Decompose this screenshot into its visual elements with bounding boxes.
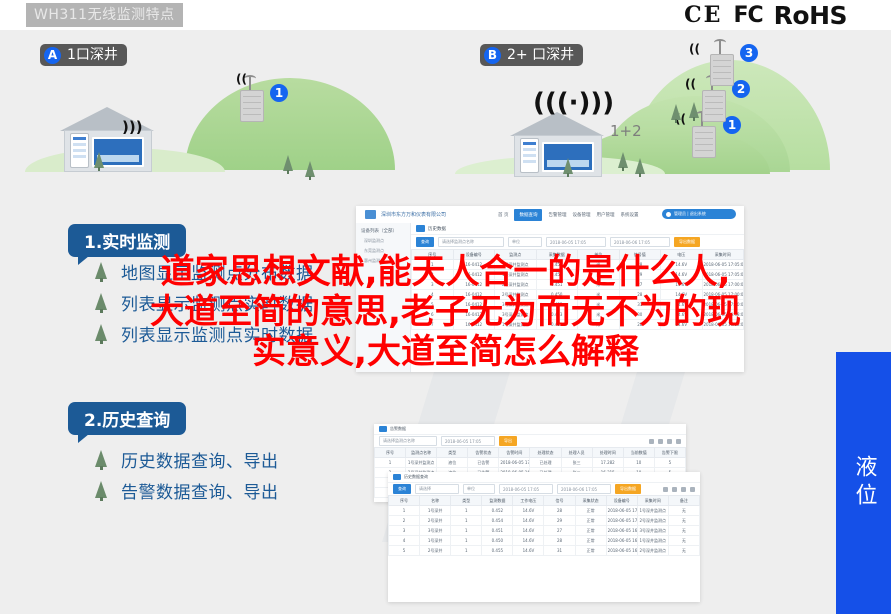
sidebar-title: 设备列表（全部） [361,228,410,234]
table-cell: 0.451 [482,526,513,536]
table-cell: 2号深井 [420,516,451,526]
list-item: 列表显示监测点实时数据 [95,287,314,318]
table-cell: 2018-06-05 17:05:12 [606,506,637,516]
user-avatar-icon [666,212,671,217]
column-header: 设备编号 [453,250,495,260]
antenna-icon [249,77,251,91]
house-icon [60,107,154,171]
table-cell: 正常 [575,526,606,536]
company-logo-icon [365,210,376,219]
date-input[interactable]: 2018-06-05 17:05 [441,436,495,446]
bullet-label: 地图显示监测点分布数据 [121,259,314,284]
scene-b-tag: B 2+ 口深井 [480,44,583,66]
wifi-signal-icon: ))) [122,120,143,135]
panel-header: 历史数据查询 [388,472,700,483]
table-cell: 29 [544,516,575,526]
table-cell: 7 [412,320,454,330]
table-body: 116-04121号深井监测点0.452米2814.6V2018-06-05 1… [412,260,744,330]
table-cell: 米 [578,280,620,290]
table-cell: 2018-06-05 16:58:12 [606,526,637,536]
table-cell: 张三 [561,458,592,468]
print-icon [681,487,686,492]
column-header: 监测数据 [482,496,513,506]
table-cell: 1 [451,516,482,526]
tree-bullet-icon [95,262,108,282]
ce-mark-icon: CE [684,2,722,28]
history-data-table: 序号设备编号监测点采集数据单位信号值电压采集时间 116-04121号深井监测点… [411,249,744,330]
table-cell: 液位 [437,458,468,468]
table-cell: 米 [578,310,620,320]
table-cell: 14.6V [513,546,544,556]
table-cell: 2018-06-05 17:00:00 [702,290,744,300]
table-cell: 16-0412 [453,310,495,320]
scene-a-label: 1口深井 [67,44,118,66]
table-cell: 10 [623,458,654,468]
nav-item-home[interactable]: 首 页 [498,212,508,218]
start-date-input[interactable]: 2018-06-05 17:05 [546,237,606,247]
table-cell: 1 [451,506,482,516]
table-cell: 31 [619,300,661,310]
table-cell: 正常 [575,546,606,556]
well-station-1 [692,116,716,158]
table-cell: 1 [451,526,482,536]
table-row[interactable]: 516-04123号深井监测点0.455米3114.6V2018-06-05 1… [412,300,744,310]
table-cell: 14.6V [661,260,703,270]
table-cell: 2018-06-05 17:05:00 [702,260,744,270]
table-cell: 16-0412 [453,320,495,330]
table-row[interactable]: 52号深井10.45514.6V31正常2018-06-05 16:50:122… [389,546,700,556]
table-cell: 1 [451,536,482,546]
well-2-signal-icon: (( [685,78,696,90]
section-2-badge: 2.历史查询 [68,402,186,435]
tree-bullet-icon [95,324,108,344]
table-row[interactable]: 216-04121号深井监测点0.454米2914.6V2018-06-05 1… [412,270,744,280]
table-cell: 2号深井监测点 [495,290,537,300]
table-cell: 3 [389,526,420,536]
table-cell: 0.453 [536,310,578,320]
table-cell: 1号深井 [420,536,451,546]
query-button[interactable]: 查询 [393,484,411,494]
table-row[interactable]: 616-04123号深井监测点0.453米3014.6V2018-06-05 1… [412,310,744,320]
query-button[interactable]: 查询 [416,237,434,247]
column-header: 处理时间 [592,448,623,458]
panel-title: 历史数据查询 [404,474,428,480]
table-cell: 2号深井监测点 [637,546,668,556]
side-tab-liquid-level[interactable]: 液位 [836,352,891,614]
slide-canvas: WH311无线监测特点 CE FC RoHS A 1口深井 ))) (( 1 [0,0,891,614]
list-item: 历史数据查询、导出 [95,444,279,475]
device-sidebar[interactable]: 设备列表（全部） 深圳监测点 东莞监测点 惠州监测点 [356,223,411,372]
table-tool-icons[interactable] [649,439,681,444]
column-header: 电压 [661,250,703,260]
column-header: 采集数据 [536,250,578,260]
table-cell: 28 [619,290,661,300]
well-cylinder [710,54,734,86]
column-header: 设备编号 [606,496,637,506]
tree-bullet-icon [95,293,108,313]
history-query-table: 序号名称类型监测数据工作电压信号采集状态设备编号采集时间备注 11号深井10.4… [388,495,700,556]
table-cell: 2018-06-05 17:05:00 [702,270,744,280]
column-header: 处理状态 [530,448,561,458]
table-cell: 3号深井监测点 [495,310,537,320]
column-header: 工作电压 [513,496,544,506]
table-cell: 16-0412 [453,260,495,270]
fcc-mark-icon: FC [733,3,762,28]
table-cell: 1 [451,546,482,556]
table-cell: 16-0412 [453,270,495,280]
column-header: 信号 [544,496,575,506]
panel-title: 告警数据 [390,426,406,432]
table-cell: 1 [375,458,406,468]
scene-a-letter: A [44,47,61,64]
company-name: 深圳市东方万和仪表有限公司 [381,211,446,218]
app-screenshot-history-query[interactable]: 历史数据查询 查询 请选择 单位 2018-06-05 17:05 2018-0… [388,472,700,602]
phone-icon [520,138,539,173]
panel-header: 告警数据 [374,424,686,435]
start-date-input[interactable]: 2018-06-05 17:05 [499,484,553,494]
nav-item-alarm[interactable]: 告警管理 [548,212,566,218]
table-cell: 3 [412,280,454,290]
export-button[interactable]: 导出 [499,436,517,446]
side-tab-label: 液位 [848,455,880,511]
column-header: 监测点名称 [406,448,437,458]
table-row[interactable]: 316-04122号深井监测点0.451米2714.6V2018-06-05 1… [412,280,744,290]
app-header: 深圳市东方万和仪表有限公司 首 页 数据查询 告警管理 设备管理 用户管理 系统… [356,206,744,224]
column-header: 序号 [375,448,406,458]
well-station-3 [710,44,734,86]
table-cell: 14.6V [661,270,703,280]
columns-icon [672,487,677,492]
monitor-point-select[interactable]: 请选择监测点名称 [438,237,504,247]
panel-icon [379,426,387,432]
app-nav[interactable]: 首 页 数据查询 告警管理 设备管理 用户管理 系统设置 [498,209,638,221]
column-header: 采集状态 [575,496,606,506]
scene-a-tag: A 1口深井 [40,44,127,66]
sidebar-item-2[interactable]: 惠州监测点 [364,258,410,264]
list-item: 地图显示监测点分布数据 [95,256,314,287]
table-cell: 3号深井监测点 [637,526,668,536]
unit-select[interactable]: 单位 [508,237,542,247]
refresh-icon [649,439,654,444]
table-cell: 2 [389,516,420,526]
table-cell: 米 [578,300,620,310]
tree-bullet-icon [95,450,108,470]
well-cylinder [692,126,716,158]
app-main-panel: 历史数据 查询 请选择监测点名称 单位 2018-06-05 17:05 201… [411,223,744,372]
nav-item-user[interactable]: 用户管理 [596,212,614,218]
section-1-bullets: 地图显示监测点分布数据 列表显示监测点实时数据 列表显示监测点实时数据 [95,256,314,349]
table-row[interactable]: 33号深井10.45114.6V27正常2018-06-05 16:58:123… [389,526,700,536]
nav-item-settings[interactable]: 系统设置 [620,212,638,218]
table-cell: 正常 [575,516,606,526]
table-cell: 1号深井监测点 [637,536,668,546]
column-header: 告警时间 [499,448,530,458]
rohs-mark-icon: RoHS [774,1,847,30]
table-cell: 0.450 [482,536,513,546]
column-header: 监测点 [495,250,537,260]
export-button[interactable]: 导出数据 [615,484,641,494]
table-cell: 0.451 [536,280,578,290]
download-icon [690,487,695,492]
table-cell: 0.455 [482,546,513,556]
table-cell: 2018-06-05 16:54:12 [606,536,637,546]
toolbar[interactable]: 请选择监测点名称 2018-06-05 17:05 导出 [374,435,686,447]
table-cell: 1号深井监测点 [495,260,537,270]
table-row[interactable]: 41号深井10.45014.6V28正常2018-06-05 16:54:121… [389,536,700,546]
download-icon [676,439,681,444]
table-cell: 28 [544,506,575,516]
table-cell: 17.282 [592,458,623,468]
table-cell: 1号深井 [420,506,451,516]
table-header-row: 序号监测点名称类型告警状态告警时间处理状态处理人员处理时间当前数值告警下限 [375,448,686,458]
well-cylinder [240,90,264,122]
table-cell: 1号深井监测点 [406,458,437,468]
scene-b-letter: B [484,47,501,64]
table-row[interactable]: 416-04122号深井监测点0.450米2814.6V2018-06-05 1… [412,290,744,300]
table-cell: 0.455 [536,300,578,310]
sidebar-item-1[interactable]: 东莞监测点 [364,248,410,254]
end-date-input[interactable]: 2018-06-06 17:05 [557,484,611,494]
table-body: 11号深井10.45214.6V28正常2018-06-05 17:05:121… [389,506,700,556]
well-station-2 [702,80,726,122]
table-cell: 30 [619,310,661,320]
tree-bullet-icon [95,481,108,501]
scene-b-illustration: B 2+ 口深井 (((·))) 1+2 (( 1 (( 2 [440,30,891,180]
table-cell: 2018-06-05 16:58:00 [702,320,744,330]
well-1-signal-icon: (( [236,73,247,85]
table-row[interactable]: 11号深井监测点液位已告警2018-06-05 17:05:12已处理张三17.… [375,458,686,468]
table-cell: 27 [544,526,575,536]
table-cell: 2018-06-05 16:50:12 [606,546,637,556]
table-cell: 28 [544,536,575,546]
table-cell: 1号深井监测点 [495,270,537,280]
column-header: 类型 [451,496,482,506]
table-cell: 27 [619,280,661,290]
scene-b-label: 2+ 口深井 [507,44,574,66]
bullet-label: 列表显示监测点实时数据 [121,321,314,346]
table-cell: 1号深井监测点 [495,320,537,330]
table-cell: 米 [578,290,620,300]
well-3-signal-icon: (( [689,43,700,55]
table-cell: 无 [668,516,699,526]
column-header: 名称 [420,496,451,506]
table-cell: 3号深井 [420,526,451,536]
scene-a-illustration: A 1口深井 ))) (( 1 [0,30,420,180]
table-tool-icons[interactable] [663,487,695,492]
table-cell: 14.6V [661,320,703,330]
table-cell: 16-0412 [453,290,495,300]
table-cell: 5 [389,546,420,556]
table-cell: 16-0412 [453,300,495,310]
table-cell: 4 [389,536,420,546]
table-row[interactable]: 116-04121号深井监测点0.452米2814.6V2018-06-05 1… [412,260,744,270]
column-header: 采集时间 [637,496,668,506]
well-number-badge-1: 1 [270,84,288,102]
table-cell: 14.6V [513,516,544,526]
print-icon [667,439,672,444]
column-header: 备注 [668,496,699,506]
export-button[interactable]: 导出数据 [674,237,700,247]
table-cell: 正常 [575,506,606,516]
table-cell: 6 [412,310,454,320]
table-cell: 28 [619,320,661,330]
column-header: 序号 [389,496,420,506]
column-header: 当前数值 [623,448,654,458]
table-cell: 无 [668,536,699,546]
nav-item-data-query[interactable]: 数据查询 [514,209,542,221]
table-cell: 2号深井监测点 [495,280,537,290]
column-header: 单位 [578,250,620,260]
column-header: 告警状态 [468,448,499,458]
user-menu[interactable]: 管理员 | 退出系统 [662,209,736,219]
user-label: 管理员 | 退出系统 [674,211,706,217]
table-cell: 0.452 [536,260,578,270]
list-item: 列表显示监测点实时数据 [95,318,314,349]
table-cell: 14.6V [661,290,703,300]
wifi-signal-icon: (((·))) [533,90,614,116]
bullet-label: 历史数据查询、导出 [121,447,279,472]
antenna-icon [719,41,721,55]
table-cell: 29 [619,270,661,280]
monitor-point-select[interactable]: 请选择监测点名称 [379,436,437,446]
table-cell: 2018-06-05 16:58:00 [702,310,744,320]
table-cell: 0.452 [536,320,578,330]
well-station-1 [240,80,264,122]
table-cell: 14.6V [513,536,544,546]
app-screenshot-history-data[interactable]: 深圳市东方万和仪表有限公司 首 页 数据查询 告警管理 设备管理 用户管理 系统… [356,206,744,372]
column-header: 采集时间 [702,250,744,260]
connection-count-label: 1+2 [610,122,642,140]
table-cell: 14.6V [661,280,703,290]
table-cell: 2号深井监测点 [637,516,668,526]
table-cell: 14.6V [661,310,703,320]
bullet-label: 列表显示监测点实时数据 [121,290,314,315]
page-title: WH311无线监测特点 [26,3,183,27]
unit-select[interactable]: 单位 [463,484,495,494]
filter-bar[interactable]: 查询 请选择监测点名称 单位 2018-06-05 17:05 2018-06-… [411,235,744,249]
well-number-badge-2: 2 [732,80,750,98]
table-cell: 1号深井监测点 [637,506,668,516]
table-cell: 米 [578,320,620,330]
table-cell: 正常 [575,536,606,546]
toolbar[interactable]: 查询 请选择 单位 2018-06-05 17:05 2018-06-06 17… [388,483,700,495]
table-cell: 16-0412 [453,280,495,290]
column-header: 信号值 [619,250,661,260]
house-icon [510,112,604,174]
refresh-icon [663,487,668,492]
table-cell: 已告警 [468,458,499,468]
phone-icon [70,133,89,168]
table-cell: 2 [412,270,454,280]
certification-marks: CE FC RoHS [684,1,847,29]
section-2-bullets: 历史数据查询、导出 告警数据查询、导出 [95,444,279,506]
table-cell: 0.454 [482,516,513,526]
point-select[interactable]: 请选择 [415,484,459,494]
table-cell: 0.450 [536,290,578,300]
table-cell: 28 [619,260,661,270]
end-date-input[interactable]: 2018-06-06 17:05 [610,237,670,247]
well-cylinder [702,90,726,122]
table-cell: 1 [412,260,454,270]
table-cell: 无 [668,506,699,516]
column-header: 类型 [437,448,468,458]
table-header-row: 序号名称类型监测数据工作电压信号采集状态设备编号采集时间备注 [389,496,700,506]
table-cell: 0.452 [482,506,513,516]
table-cell: 无 [668,546,699,556]
section-1-badge: 1.实时监测 [68,224,186,257]
table-cell: 0.454 [536,270,578,280]
table-cell: 1 [389,506,420,516]
table-cell: 14.6V [661,300,703,310]
bullet-label: 告警数据查询、导出 [121,478,279,503]
table-cell: 已处理 [530,458,561,468]
well-number-badge-3: 3 [740,44,758,62]
table-cell: 2号深井 [420,546,451,556]
columns-icon [658,439,663,444]
table-cell: 3号深井监测点 [495,300,537,310]
breadcrumb: 历史数据 [411,223,744,235]
list-item: 告警数据查询、导出 [95,475,279,506]
table-cell: 5 [412,300,454,310]
table-cell: 4 [412,290,454,300]
table-cell: 2018-06-05 17:05:12 [499,458,530,468]
page-icon [416,225,425,232]
table-cell: 2018-06-05 17:00:12 [606,516,637,526]
column-header: 告警下限 [654,448,685,458]
panel-icon [393,474,401,480]
table-cell: 2018-06-05 17:00:00 [702,280,744,290]
table-cell: 米 [578,260,620,270]
table-cell: 31 [544,546,575,556]
column-header: 处理人员 [561,448,592,458]
table-cell: 无 [668,526,699,536]
nav-item-device[interactable]: 设备管理 [572,212,590,218]
sidebar-item-0[interactable]: 深圳监测点 [364,238,410,244]
table-row[interactable]: 716-04121号深井监测点0.452米2814.6V2018-06-05 1… [412,320,744,330]
table-header-row: 序号设备编号监测点采集数据单位信号值电压采集时间 [412,250,744,260]
table-cell: 14.6V [513,526,544,536]
table-cell: 米 [578,270,620,280]
table-cell: 5 [654,458,685,468]
table-cell: 14.6V [513,506,544,516]
table-cell: 2018-06-05 17:00:00 [702,300,744,310]
breadcrumb-label: 历史数据 [428,226,446,232]
column-header: 序号 [412,250,454,260]
table-row[interactable]: 11号深井10.45214.6V28正常2018-06-05 17:05:121… [389,506,700,516]
table-row[interactable]: 22号深井10.45414.6V29正常2018-06-05 17:00:122… [389,516,700,526]
